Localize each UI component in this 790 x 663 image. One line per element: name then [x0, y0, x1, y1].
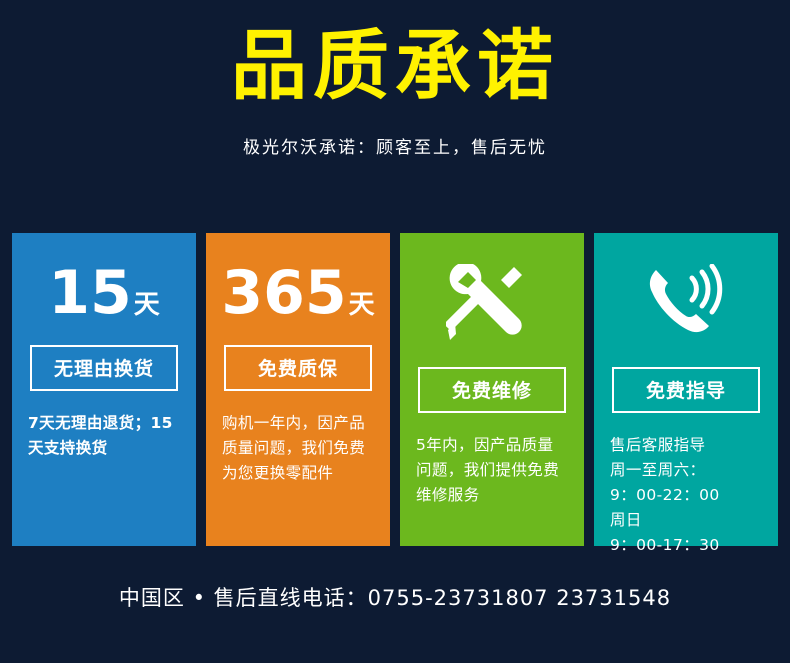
card-number: 15天: [26, 263, 182, 323]
card-number-unit: 天: [134, 290, 160, 320]
page-subtitle: 极光尔沃承诺：顾客至上，售后无忧: [0, 133, 790, 158]
card-number-value: 365: [221, 258, 346, 328]
promise-cards: 15天 无理由换货 7天无理由退货；15天支持换货 365天 免费质保 购机一年…: [12, 233, 778, 546]
card-body-text: 5年内，因产品质量问题，我们提供免费维修服务: [414, 433, 570, 508]
header: 品质承诺 极光尔沃承诺：顾客至上，售后无忧: [0, 0, 790, 158]
card-number: 365天: [220, 263, 376, 323]
card-365-day-warranty: 365天 免费质保 购机一年内，因产品质量问题，我们免费为您更换零配件: [206, 233, 390, 546]
page-title: 品质承诺: [0, 22, 790, 109]
wrench-screwdriver-icon: [414, 261, 570, 345]
card-pill-label: 免费质保: [224, 345, 372, 391]
card-number-unit: 天: [349, 290, 375, 320]
card-free-repair: 免费维修 5年内，因产品质量问题，我们提供免费维修服务: [400, 233, 584, 546]
promo-banner: 品质承诺 极光尔沃承诺：顾客至上，售后无忧 15天 无理由换货 7天无理由退货；…: [0, 0, 790, 663]
card-body-text: 购机一年内，因产品质量问题，我们免费为您更换零配件: [220, 411, 376, 486]
card-free-guidance: 免费指导 售后客服指导 周一至周六： 9：00-22：00 周日 9：00-17…: [594, 233, 778, 546]
card-pill-label: 无理由换货: [30, 345, 178, 391]
phone-ringing-icon: [608, 261, 764, 345]
card-number-value: 15: [48, 258, 132, 328]
card-15-day-exchange: 15天 无理由换货 7天无理由退货；15天支持换货: [12, 233, 196, 546]
footer-hotline: 中国区 • 售后直线电话：0755-23731807 23731548: [0, 582, 790, 612]
card-body-text: 售后客服指导 周一至周六： 9：00-22：00 周日 9：00-17：30: [608, 433, 764, 559]
card-pill-label: 免费指导: [612, 367, 760, 413]
card-pill-label: 免费维修: [418, 367, 566, 413]
card-body-text: 7天无理由退货；15天支持换货: [26, 411, 182, 461]
